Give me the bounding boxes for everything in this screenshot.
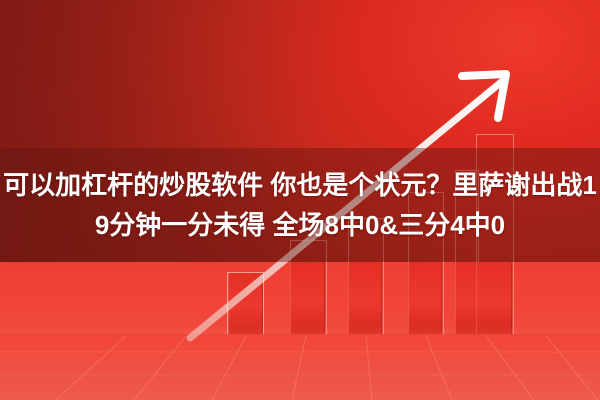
promotional-banner: 可以加杠杆的炒股软件 你也是个状元？里萨谢出战1 9分钟一分未得 全场8中0&三… — [0, 0, 600, 400]
headline-line-2: 9分钟一分未得 全场8中0&三分4中0 — [0, 205, 600, 245]
headline-block: 可以加杠杆的炒股软件 你也是个状元？里萨谢出战1 9分钟一分未得 全场8中0&三… — [0, 152, 600, 258]
headline-line-1: 可以加杠杆的炒股软件 你也是个状元？里萨谢出战1 — [0, 165, 600, 205]
